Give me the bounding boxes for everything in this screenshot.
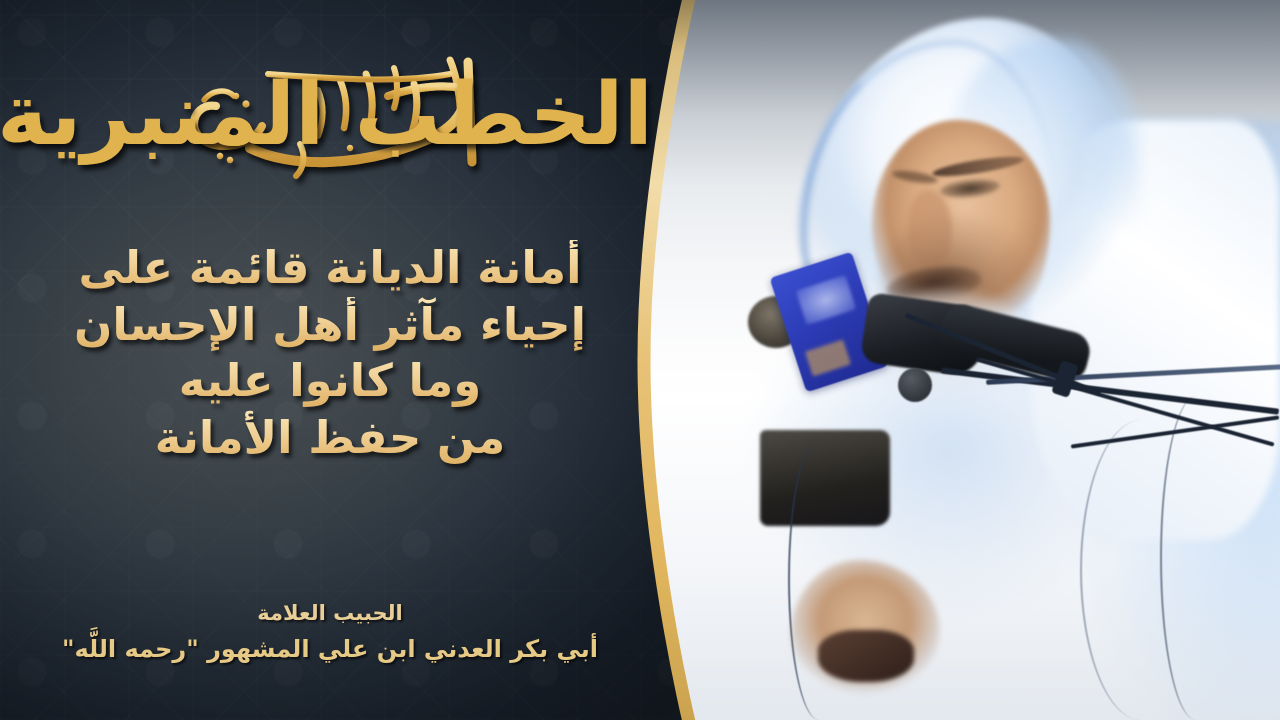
- attribution: الحبيب العلامة أبي بكر العدني ابن علي ال…: [0, 598, 660, 668]
- program-logo: الخطب المنبرية: [150, 44, 500, 194]
- headline: أمانة الديانة قائمة على إحياء مآثر أهل ا…: [0, 240, 660, 467]
- video-thumbnail: الخطب المنبرية أمانة الديانة قائمة على إ…: [0, 0, 1280, 720]
- cable-3: [1080, 420, 1202, 720]
- headline-line-4: من حفظ الأمانة: [0, 410, 660, 467]
- headline-line-3: وما كانوا عليه: [0, 353, 660, 410]
- held-object: [818, 630, 914, 682]
- headline-line-2: إحياء مآثر أهل الإحسان: [0, 297, 660, 354]
- microphone-knob: [898, 368, 932, 402]
- speaker-honorific: الحبيب العلامة: [0, 598, 660, 630]
- speaker-photo: [640, 0, 1280, 720]
- headline-line-1: أمانة الديانة قائمة على: [0, 240, 660, 297]
- nose: [908, 190, 952, 270]
- speaker-name: أبي بكر العدني ابن علي المشهور "رحمه الل…: [0, 630, 660, 668]
- logo-text: الخطب المنبرية: [0, 65, 653, 165]
